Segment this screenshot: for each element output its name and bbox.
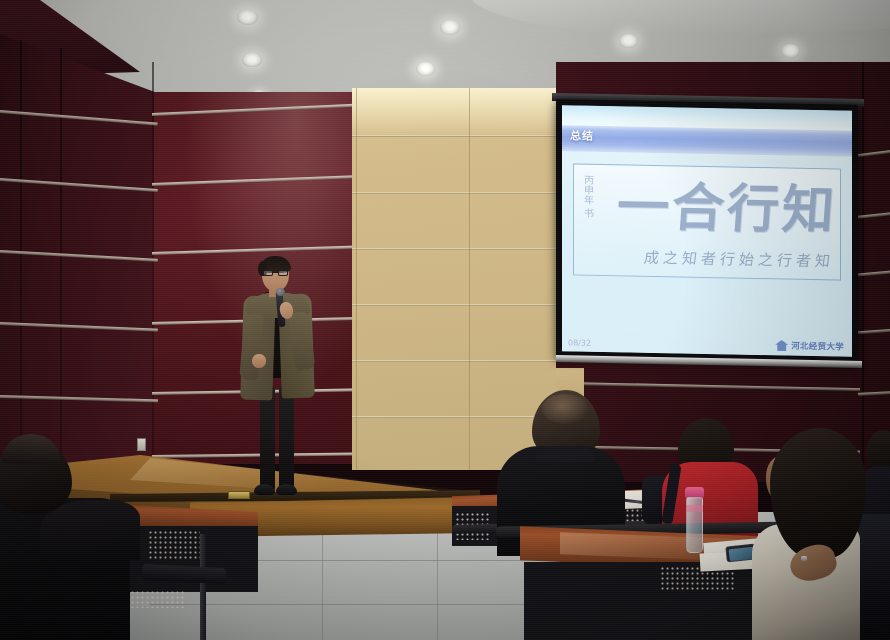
presenter: [236, 258, 320, 508]
presenter-shoe: [254, 484, 275, 495]
downlight-icon: [242, 53, 262, 67]
floor-grout-line: [322, 530, 323, 640]
slide-page-number: 08/32: [568, 338, 591, 347]
university-logo-icon: [775, 340, 788, 351]
inscription-char: 行: [719, 248, 737, 269]
lecture-hall-photo: 总结 丙申年 书 知 行 合 一 知 者 行 之 始: [0, 0, 890, 640]
panel-seam: [352, 360, 564, 362]
inscription-char: 知: [681, 247, 699, 268]
downlight-icon: [237, 10, 258, 25]
floor-grout-line: [437, 530, 438, 640]
list-item: [0, 440, 150, 640]
downlight-icon: [619, 34, 638, 48]
attendee-collar: [536, 446, 594, 462]
calligraphy-char: 一: [615, 183, 670, 233]
attendee-hair: [770, 428, 866, 558]
attendee-scalp: [542, 394, 588, 424]
microphone-head-icon: [276, 288, 285, 296]
panel-seam: [352, 304, 564, 306]
desk-leg: [200, 534, 206, 640]
inscription-char: 成: [643, 246, 661, 267]
panel-seam: [469, 88, 470, 470]
glasses-icon: [263, 270, 288, 276]
bottle-label: [686, 505, 703, 512]
calligraphy-inscription: 知 者 行 之 始 行 者 知 之 成: [596, 243, 830, 273]
presenter-leg: [260, 386, 275, 490]
presenter-leg: [279, 386, 294, 490]
slide-body: 丙申年 书 知 行 合 一 知 者 行 之 始 行 者: [562, 151, 852, 357]
inscription-char: 之: [757, 249, 775, 270]
inscription-char: 知: [814, 250, 832, 271]
calligraphy-seal-text: 丙申年 书: [580, 175, 593, 231]
wall-seam: [20, 40, 22, 495]
inscription-char: 之: [662, 247, 680, 268]
downlight-icon: [440, 20, 460, 35]
panel-seam: [352, 248, 564, 250]
slide-title: 总结: [570, 127, 594, 143]
panel-seam: [356, 88, 357, 470]
list-item: [760, 428, 890, 640]
left-maroon-wall: [0, 34, 160, 504]
inscription-char: 者: [700, 247, 718, 268]
panel-seam: [352, 192, 564, 194]
inscription-char: 行: [776, 249, 794, 270]
calligraphy-char: 合: [670, 184, 725, 234]
university-logo-text: 河北经贸大学: [791, 340, 844, 353]
panel-seam: [352, 135, 564, 137]
ceiling-cove: [469, 0, 890, 45]
presenter-legs: [260, 386, 294, 490]
calligraphy-main-characters: 知 行 合 一: [604, 171, 834, 247]
projection-screen: 总结 丙申年 书 知 行 合 一 知 者 行 之 始: [556, 99, 858, 363]
calligraphy-char: 行: [725, 185, 780, 235]
calligraphy-char: 知: [780, 186, 835, 236]
presenter-hand: [252, 354, 266, 368]
glasses-lens: [278, 270, 288, 276]
glasses-lens: [263, 270, 273, 276]
inscription-char: 者: [795, 249, 813, 270]
downlight-icon: [416, 62, 435, 76]
calligraphy-artwork: 丙申年 书 知 行 合 一 知 者 行 之 始 行 者: [573, 163, 841, 280]
ring-icon: [801, 556, 807, 561]
university-logo: 河北经贸大学: [775, 339, 844, 352]
presenter-shoe: [276, 484, 297, 495]
inscription-char: 始: [738, 248, 756, 269]
wall-seam: [152, 62, 154, 487]
slide-surface: 总结 丙申年 书 知 行 合 一 知 者 行 之 始: [562, 105, 852, 357]
downlight-icon: [781, 44, 800, 58]
desk-perforation: [148, 530, 200, 560]
